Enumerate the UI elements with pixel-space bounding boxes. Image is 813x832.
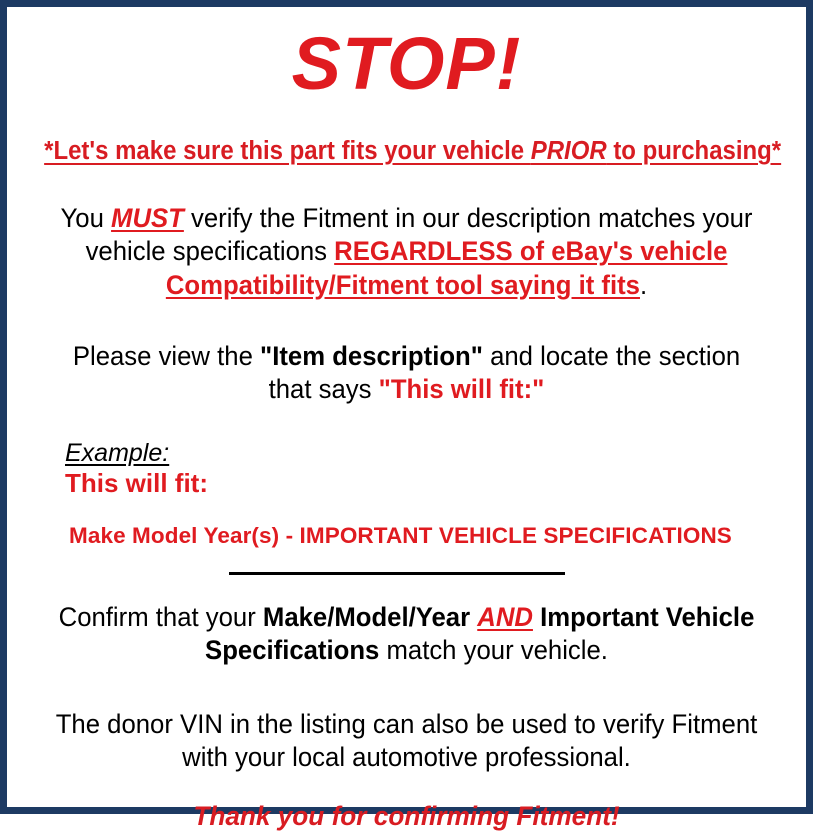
item-description-label: "Item description" <box>260 341 483 371</box>
example-label-row: Example: <box>65 440 792 468</box>
example-this-will-fit: This will fit: <box>65 469 792 498</box>
must-verify-paragraph: You MUST verify the Fitment in our descr… <box>33 202 781 301</box>
subtitle-emphasis-prior: PRIOR <box>531 137 607 165</box>
must-seg3: . <box>640 270 647 300</box>
subtitle-banner: *Let's make sure this part fits your veh… <box>44 137 769 166</box>
must-seg1: You <box>61 203 112 233</box>
and-keyword: AND <box>477 602 533 632</box>
donor-vin-paragraph: The donor VIN in the listing can also be… <box>33 708 781 774</box>
must-keyword: MUST <box>111 203 184 233</box>
item-description-paragraph: Please view the "Item description" and l… <box>33 340 781 406</box>
this-will-fit-label: "This will fit:" <box>379 374 545 404</box>
subtitle-tail-text: to purchasing* <box>607 137 781 165</box>
confirm-seg1: Confirm that your <box>59 602 263 632</box>
example-spec-line: Make Model Year(s) - IMPORTANT VEHICLE S… <box>65 524 792 549</box>
view-seg1: Please view the <box>73 341 260 371</box>
example-block: Example: This will fit: Make Model Year(… <box>21 440 792 548</box>
section-divider <box>229 572 565 575</box>
page-title: STOP! <box>21 27 792 101</box>
confirm-paragraph: Confirm that your Make/Model/Year AND Im… <box>33 601 781 667</box>
example-label: Example: <box>65 440 169 468</box>
subtitle-lead-text: *Let's make sure this part fits your veh… <box>44 137 531 165</box>
fitment-notice-card: STOP! *Let's make sure this part fits yo… <box>0 0 813 814</box>
thank-you-message: Thank you for confirming Fitment! <box>33 800 781 832</box>
make-model-year-label: Make/Model/Year <box>263 602 470 632</box>
divider-row <box>21 572 792 575</box>
notice-content: STOP! *Let's make sure this part fits yo… <box>7 7 806 807</box>
confirm-seg2: match your vehicle. <box>379 635 608 665</box>
